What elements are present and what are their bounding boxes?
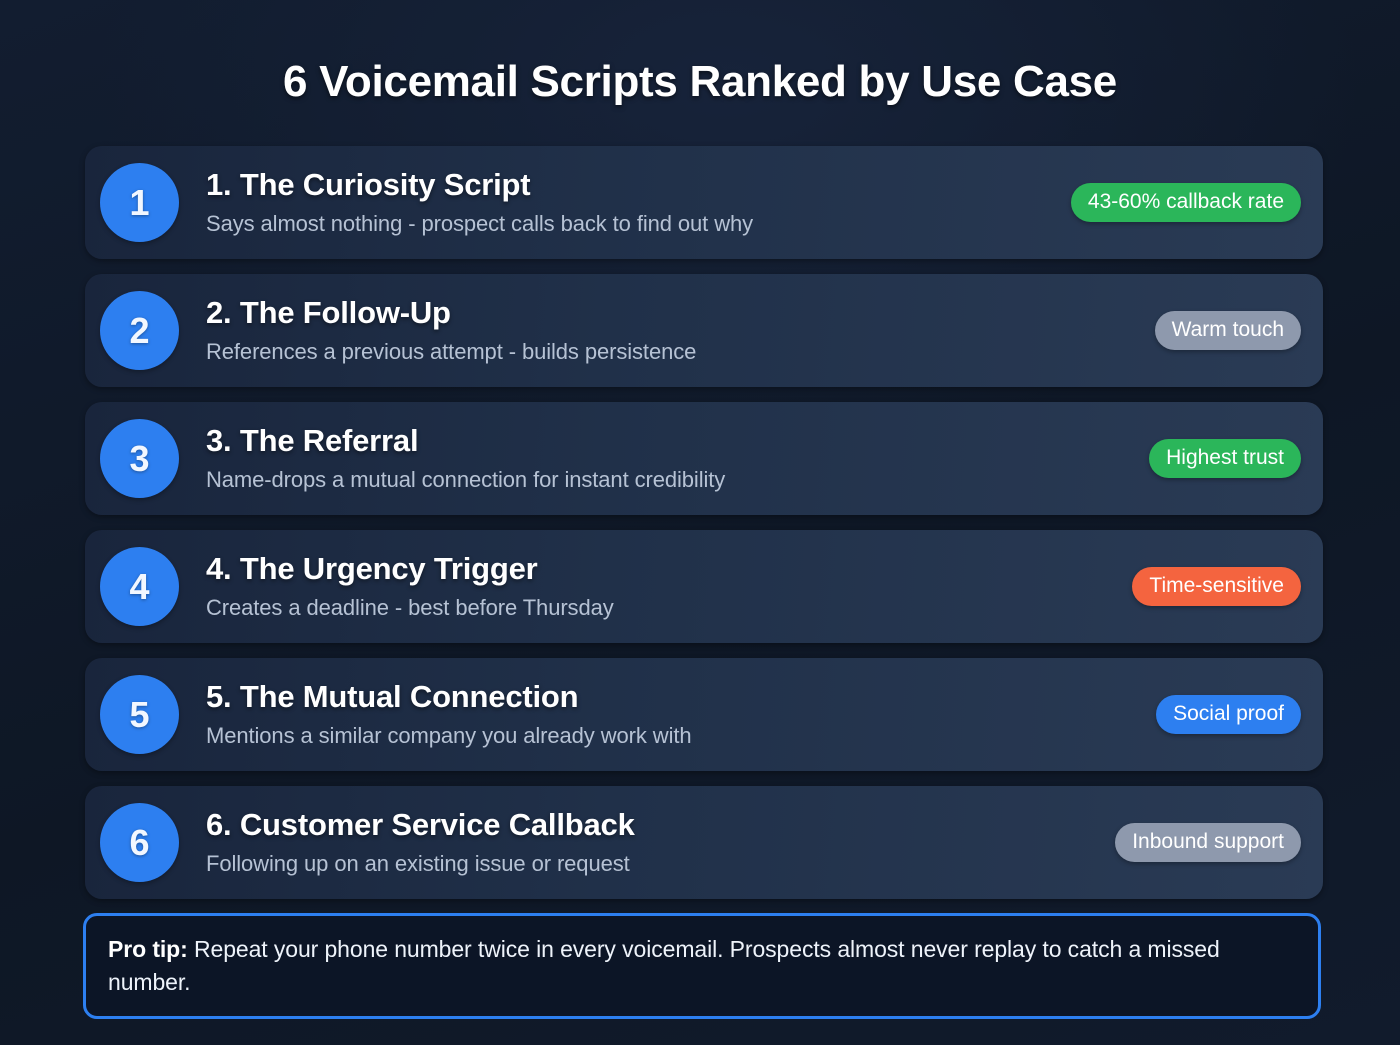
list-item[interactable]: 33. The ReferralName-drops a mutual conn… [85, 402, 1323, 515]
list-item-text: 1. The Curiosity ScriptSays almost nothi… [206, 168, 1071, 236]
list-item[interactable]: 11. The Curiosity ScriptSays almost noth… [85, 146, 1323, 259]
pro-tip-text: Repeat your phone number twice in every … [108, 936, 1220, 995]
list-item-text: 2. The Follow-UpReferences a previous at… [206, 296, 1155, 364]
list-item-description: References a previous attempt - builds p… [206, 339, 1143, 364]
rank-badge: 3 [100, 419, 179, 498]
list-item-title: 4. The Urgency Trigger [206, 552, 1120, 587]
list-item[interactable]: 44. The Urgency TriggerCreates a deadlin… [85, 530, 1323, 643]
list-item-description: Creates a deadline - best before Thursda… [206, 595, 1120, 620]
list-item-description: Says almost nothing - prospect calls bac… [206, 211, 1059, 236]
rank-badge: 4 [100, 547, 179, 626]
list-item-text: 6. Customer Service CallbackFollowing up… [206, 808, 1115, 876]
list-item-title: 3. The Referral [206, 424, 1137, 459]
rank-badge: 6 [100, 803, 179, 882]
list-item-description: Following up on an existing issue or req… [206, 851, 1103, 876]
status-badge: Inbound support [1115, 823, 1301, 862]
rank-badge: 1 [100, 163, 179, 242]
list-item-description: Name-drops a mutual connection for insta… [206, 467, 1137, 492]
list-item-text: 3. The ReferralName-drops a mutual conne… [206, 424, 1149, 492]
list-item-text: 5. The Mutual ConnectionMentions a simil… [206, 680, 1156, 748]
status-badge: 43-60% callback rate [1071, 183, 1301, 222]
status-badge: Highest trust [1149, 439, 1301, 478]
list-item[interactable]: 66. Customer Service CallbackFollowing u… [85, 786, 1323, 899]
list-item-title: 2. The Follow-Up [206, 296, 1143, 331]
list-item-text: 4. The Urgency TriggerCreates a deadline… [206, 552, 1132, 620]
status-badge: Social proof [1156, 695, 1301, 734]
status-badge: Time-sensitive [1132, 567, 1301, 606]
list-item[interactable]: 55. The Mutual ConnectionMentions a simi… [85, 658, 1323, 771]
script-list: 11. The Curiosity ScriptSays almost noth… [85, 146, 1323, 914]
list-item-description: Mentions a similar company you already w… [206, 723, 1144, 748]
list-item-title: 1. The Curiosity Script [206, 168, 1059, 203]
infographic-page: 6 Voicemail Scripts Ranked by Use Case 1… [0, 0, 1400, 1045]
rank-badge: 2 [100, 291, 179, 370]
pro-tip-label: Pro tip: [108, 936, 188, 962]
status-badge: Warm touch [1155, 311, 1301, 350]
list-item-title: 6. Customer Service Callback [206, 808, 1103, 843]
list-item[interactable]: 22. The Follow-UpReferences a previous a… [85, 274, 1323, 387]
rank-badge: 5 [100, 675, 179, 754]
pro-tip-box: Pro tip: Repeat your phone number twice … [83, 913, 1321, 1019]
list-item-title: 5. The Mutual Connection [206, 680, 1144, 715]
page-title: 6 Voicemail Scripts Ranked by Use Case [0, 57, 1400, 107]
